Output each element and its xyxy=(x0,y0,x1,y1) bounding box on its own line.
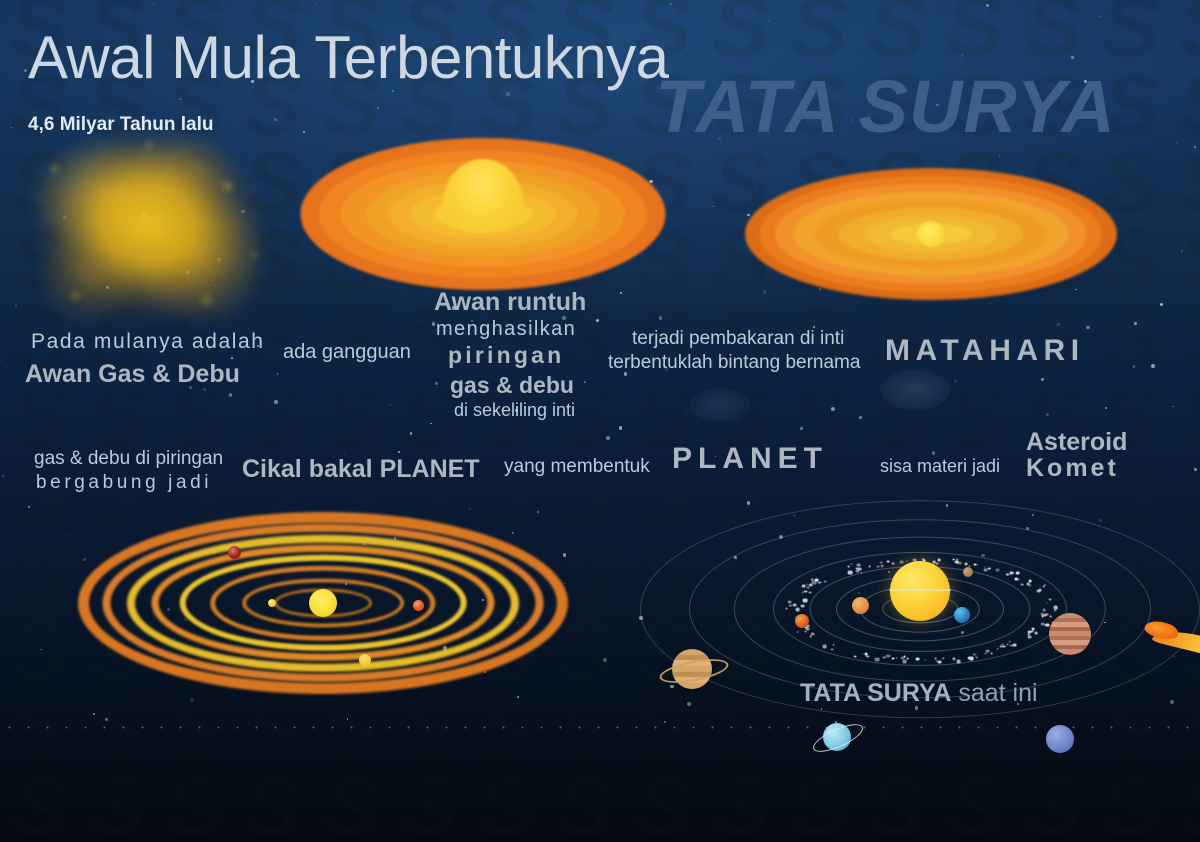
asteroid xyxy=(904,656,906,658)
asteroid xyxy=(855,567,858,569)
forming-planetary-system-visual xyxy=(78,512,568,694)
asteroid xyxy=(809,636,811,638)
star xyxy=(277,373,278,374)
star xyxy=(105,718,108,721)
star xyxy=(40,649,42,651)
caption-disturbance: ada gangguan xyxy=(283,341,411,364)
asteroid xyxy=(1053,606,1057,609)
star xyxy=(421,320,422,321)
star xyxy=(713,206,714,207)
asteroid xyxy=(809,583,813,586)
asteroid xyxy=(1006,643,1008,645)
asteroid xyxy=(804,631,807,633)
asteroid xyxy=(990,652,992,654)
asteroid xyxy=(886,654,890,657)
asteroid xyxy=(968,656,972,659)
star xyxy=(1134,322,1137,325)
asteroid xyxy=(795,608,800,612)
nebula-glow xyxy=(880,370,950,410)
asteroid xyxy=(1008,641,1010,643)
page-title: Awal Mula Terbentuknya xyxy=(28,26,669,90)
watermark-letter: S xyxy=(936,0,1014,68)
watermark-letter: S xyxy=(780,0,858,68)
caption-accretion-line1: gas & debu di piringan xyxy=(34,448,223,470)
asteroid xyxy=(805,627,810,631)
star xyxy=(153,3,154,4)
watermark-letter: S xyxy=(1170,224,1200,302)
star xyxy=(432,322,436,326)
asteroid xyxy=(952,657,956,660)
asteroid xyxy=(969,565,971,566)
asteroid xyxy=(803,599,808,603)
star xyxy=(659,316,662,319)
star xyxy=(435,382,438,385)
watermark-letter: S xyxy=(1014,0,1092,68)
star xyxy=(932,451,936,455)
star xyxy=(303,131,305,133)
asteroid xyxy=(1028,585,1030,587)
asteroid xyxy=(875,658,879,661)
watermark-letter: S xyxy=(702,0,780,68)
asteroid xyxy=(987,567,990,569)
asteroid xyxy=(854,655,857,657)
star xyxy=(584,381,586,383)
watermark-letter: S xyxy=(156,380,234,458)
asteroid xyxy=(848,566,850,567)
asteroid xyxy=(1043,609,1046,611)
star xyxy=(6,367,7,368)
asteroid xyxy=(882,657,885,659)
caption-planets-line1: yang membentuk xyxy=(504,456,650,478)
asteroid xyxy=(964,563,967,566)
star xyxy=(1194,146,1196,148)
asteroid xyxy=(814,578,818,581)
star xyxy=(1176,142,1178,144)
caption-cloud-line1: Pada mulanya adalah xyxy=(31,330,265,354)
asteroid xyxy=(1012,643,1016,646)
planetesimal-small-yellow xyxy=(268,599,276,607)
star xyxy=(1133,365,1136,368)
page-subtitle: 4,6 Milyar Tahun lalu xyxy=(28,114,213,136)
asteroid xyxy=(1032,628,1035,631)
star xyxy=(620,292,622,294)
caption-ignition-line2: terbentuklah bintang bernama xyxy=(608,352,860,374)
star xyxy=(800,427,803,430)
star xyxy=(1057,323,1060,326)
star xyxy=(619,426,623,430)
star xyxy=(1160,303,1163,306)
protoplanetary-disk-collapse xyxy=(300,138,665,290)
asteroid xyxy=(937,558,941,561)
star xyxy=(2,475,4,477)
caption-accretion-line2: bergabung jadi xyxy=(36,472,212,494)
star xyxy=(1071,56,1074,59)
asteroid xyxy=(876,565,879,567)
star xyxy=(469,508,471,510)
caption-matahari: MATAHARI xyxy=(885,334,1085,368)
asteroid xyxy=(806,587,809,589)
star xyxy=(69,534,71,536)
asteroid xyxy=(865,655,868,657)
watermark-letter: S xyxy=(0,536,78,614)
star xyxy=(93,713,95,715)
asteroid xyxy=(802,584,806,587)
watermark-letter: S xyxy=(312,380,390,458)
star xyxy=(859,416,862,419)
star xyxy=(389,404,392,407)
asteroid xyxy=(880,562,882,564)
caption-komet: Komet xyxy=(1026,454,1119,483)
caption-planet: PLANET xyxy=(672,442,828,476)
star xyxy=(22,41,23,42)
asteroid xyxy=(790,605,792,606)
caption-collapse-line3: piringan xyxy=(448,342,564,369)
star xyxy=(506,92,510,96)
asteroid xyxy=(1006,573,1009,575)
asteroid xyxy=(822,645,826,648)
caption-collapse-line4: gas & debu xyxy=(450,372,574,399)
proto-sun xyxy=(309,589,337,617)
asteroid xyxy=(818,581,822,584)
asteroid xyxy=(785,608,787,610)
watermark-letter: S xyxy=(1170,146,1200,224)
asteroid xyxy=(800,604,804,607)
star xyxy=(190,698,194,702)
star xyxy=(1148,75,1149,76)
asteroid xyxy=(1010,572,1013,575)
asteroid xyxy=(1049,616,1051,618)
star xyxy=(1181,250,1183,252)
star xyxy=(831,407,835,411)
asteroid xyxy=(804,590,807,593)
asteroid xyxy=(891,562,895,565)
caption-planets-line3: sisa materi jadi xyxy=(880,456,1000,477)
asteroid xyxy=(1034,631,1038,634)
star xyxy=(670,3,672,5)
star xyxy=(1046,413,1049,416)
gas-dust-cloud-visual xyxy=(18,118,280,346)
venus xyxy=(852,597,869,614)
star xyxy=(603,658,607,662)
watermark-letter: S xyxy=(0,380,78,458)
page-title-big: TATA SURYA xyxy=(655,70,1116,144)
star xyxy=(398,451,400,453)
caption-asteroid: Asteroid xyxy=(1026,428,1127,457)
star xyxy=(1151,364,1155,368)
asteroid xyxy=(1014,578,1017,580)
star xyxy=(274,400,278,404)
asteroid xyxy=(903,660,907,663)
star xyxy=(28,506,30,508)
star xyxy=(768,20,770,22)
star xyxy=(1105,407,1107,409)
asteroid xyxy=(855,570,859,573)
jupiter xyxy=(1049,613,1091,655)
star xyxy=(1172,406,1173,407)
star xyxy=(377,107,379,109)
asteroid xyxy=(936,660,938,661)
caption-ignition-line1: terjadi pembakaran di inti xyxy=(632,328,844,350)
star xyxy=(430,423,432,425)
asteroid xyxy=(1021,583,1024,585)
asteroid xyxy=(995,569,999,572)
mercury xyxy=(963,567,973,577)
asteroid xyxy=(906,560,908,561)
asteroid xyxy=(973,653,977,656)
footer: LANGITSELATAN ASTRO langitselatan info@l… xyxy=(0,729,1200,842)
watermark-letter: S xyxy=(936,380,1014,458)
star xyxy=(11,127,12,128)
asteroid xyxy=(810,578,813,580)
nebula-glow xyxy=(690,388,750,422)
watermark-letter: S xyxy=(1170,302,1200,380)
star xyxy=(517,696,519,698)
star xyxy=(179,98,182,101)
star xyxy=(1041,378,1045,382)
star xyxy=(24,69,27,72)
asteroid xyxy=(997,648,999,649)
earth xyxy=(954,607,970,623)
watermark-letter: S xyxy=(858,0,936,68)
asteroid xyxy=(1038,588,1042,591)
star xyxy=(990,303,991,304)
asteroid xyxy=(787,600,791,603)
watermark-letter: S xyxy=(1092,0,1170,68)
asteroid xyxy=(924,659,926,661)
star xyxy=(596,319,599,322)
watermark-letter: S xyxy=(0,614,78,692)
caption-cikal-bakal-planet: Cikal bakal PLANET xyxy=(242,455,480,484)
star xyxy=(347,718,348,719)
asteroid xyxy=(848,571,853,575)
watermark-letter: S xyxy=(858,380,936,458)
solar-system-label: TATA SURYA saat ini xyxy=(800,679,1038,708)
asteroid xyxy=(977,564,979,566)
protoplanetary-disk-star xyxy=(745,168,1117,300)
star xyxy=(231,357,233,359)
star xyxy=(229,393,233,397)
caption-cloud-line2: Awan Gas & Debu xyxy=(25,360,240,389)
disk-core xyxy=(917,221,945,247)
star xyxy=(961,54,964,57)
asteroid xyxy=(809,591,812,593)
star xyxy=(1100,16,1101,17)
asteroid xyxy=(824,580,827,582)
asteroid xyxy=(896,657,898,658)
asteroid xyxy=(900,560,904,563)
sun xyxy=(890,561,950,621)
star xyxy=(316,3,317,4)
planetesimal-yellow xyxy=(359,654,371,666)
watermark-letter: S xyxy=(78,380,156,458)
star xyxy=(1086,326,1090,330)
watermark-letter: S xyxy=(1092,302,1170,380)
watermark-letter: S xyxy=(234,380,312,458)
star xyxy=(954,380,957,383)
star xyxy=(686,410,687,411)
asteroid xyxy=(936,562,939,565)
asteroid xyxy=(935,658,937,660)
infographic-poster: SSSSSSSSSSSSSSSSSSSSSSSSSSSSSSSSSSSSSSSS… xyxy=(0,0,1200,842)
asteroid xyxy=(881,565,884,567)
asteroid xyxy=(833,644,835,646)
star xyxy=(606,436,610,440)
star xyxy=(410,432,413,435)
star xyxy=(986,4,989,7)
asteroid xyxy=(792,603,796,606)
caption-collapse-line5: di sekeliling inti xyxy=(454,400,575,421)
watermark-letter: S xyxy=(1170,380,1200,458)
asteroid xyxy=(956,561,959,564)
caption-collapse-line1: Awan runtuh xyxy=(434,288,586,317)
watermark-letter: S xyxy=(1170,0,1200,68)
sun-orbit-overlay xyxy=(889,589,951,591)
asteroid xyxy=(956,660,961,664)
star xyxy=(999,156,1000,157)
caption-collapse-line2: menghasilkan xyxy=(436,318,576,341)
star xyxy=(664,721,665,722)
mars xyxy=(795,614,809,628)
star xyxy=(1194,468,1197,471)
watermark-letter: S xyxy=(1170,68,1200,146)
asteroid xyxy=(856,563,860,566)
planetesimal-red xyxy=(228,546,241,559)
asteroid xyxy=(887,560,890,563)
